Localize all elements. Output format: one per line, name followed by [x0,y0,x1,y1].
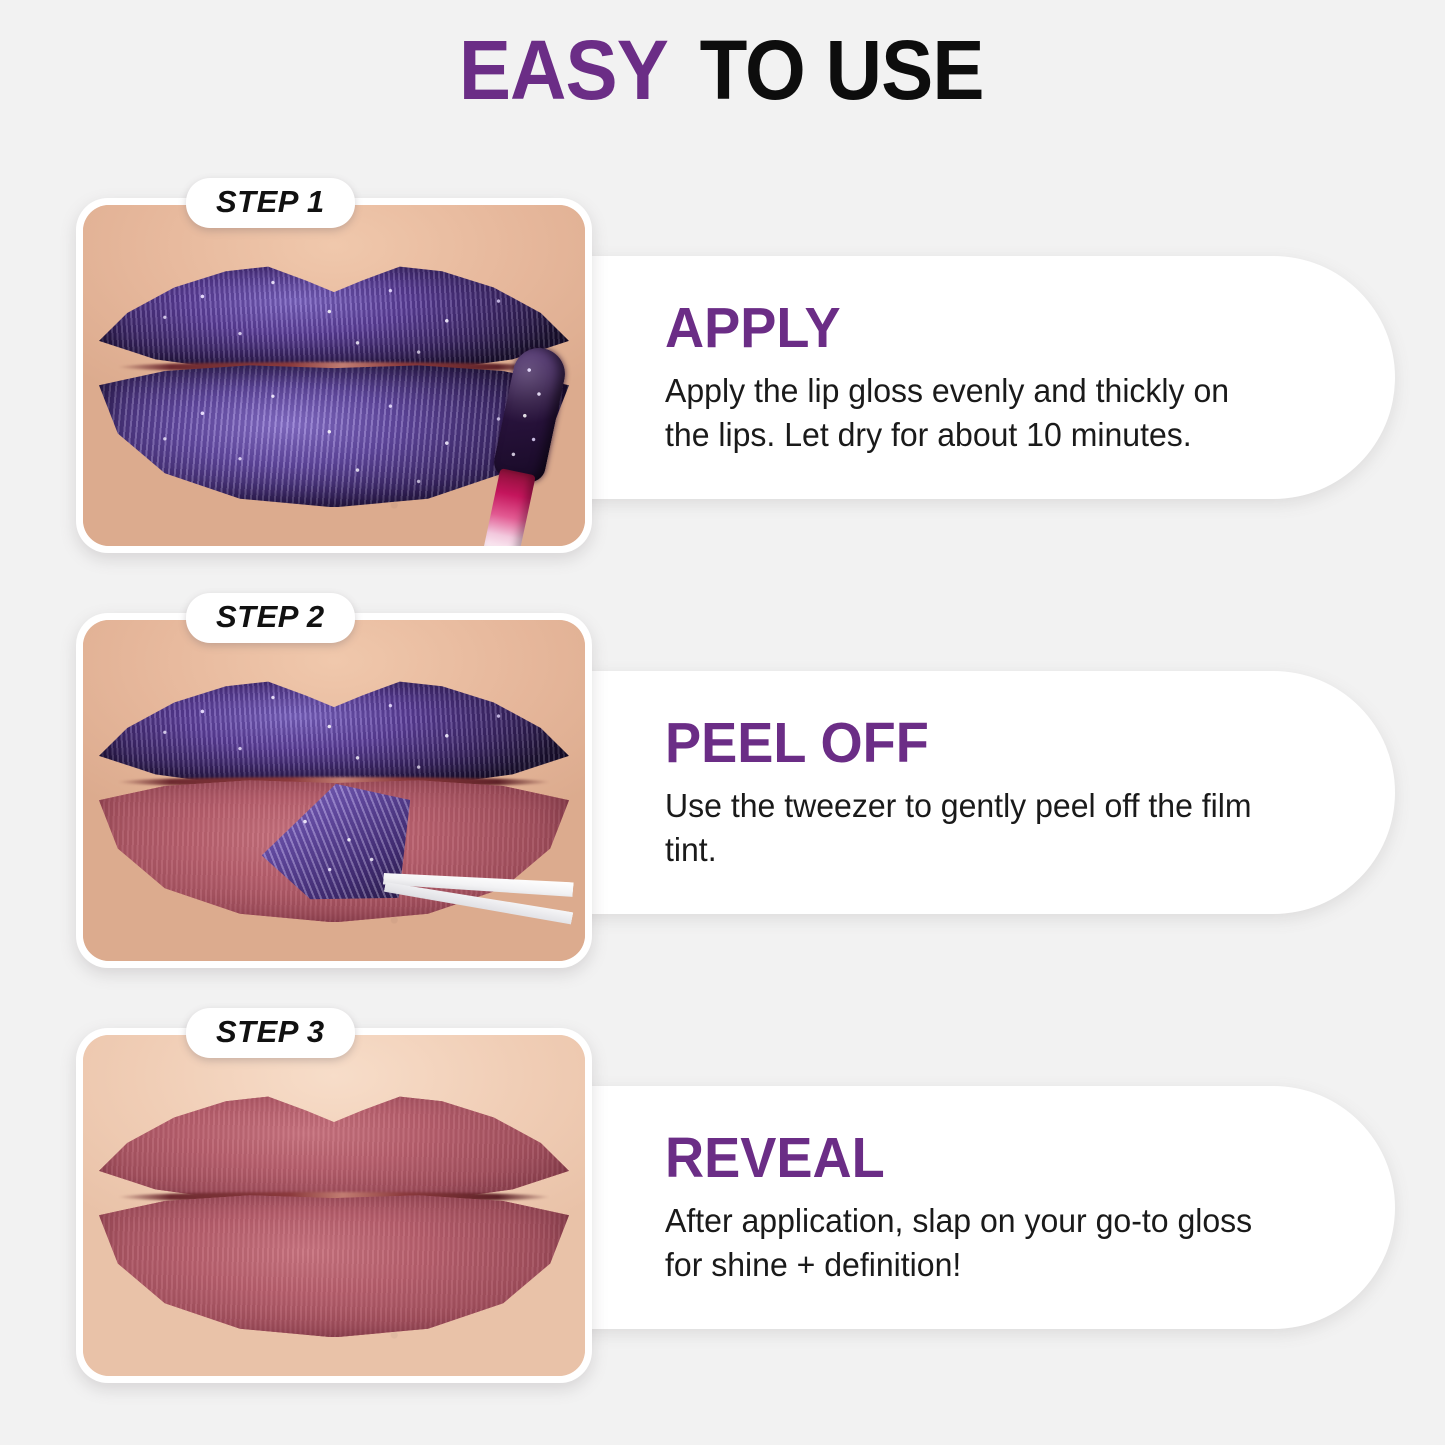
step-3-photo [76,1028,592,1383]
step-3-heading: REVEAL [665,1129,1245,1187]
step-badge-1: STEP 1 [186,178,355,228]
page-title: EASYTO USE [0,28,1445,112]
page-title-plain: TO USE [700,28,984,112]
lips-final-tint [99,1087,569,1337]
step-badge-2: STEP 2 [186,593,355,643]
step-2-heading: PEEL OFF [665,714,1245,772]
step-badge-3: STEP 3 [186,1008,355,1058]
step-2-body: Use the tweezer to gently peel off the f… [665,784,1257,871]
step-row-1: APPLY Apply the lip gloss evenly and thi… [0,190,1445,560]
step-1-body: Apply the lip gloss evenly and thickly o… [665,369,1257,456]
step-3-body: After application, slap on your go-to gl… [665,1199,1257,1286]
glitter-sparkle [99,257,569,373]
step-2-photo [76,613,592,968]
step-2-photo-inner [83,620,585,961]
wand-stem [483,468,536,546]
lower-lip [99,1195,569,1337]
upper-lip [99,257,569,373]
step-1-photo [76,198,592,553]
page-title-accent: EASY [458,28,667,112]
glitter-sparkle [99,672,569,788]
step-row-2: PEEL OFF Use the tweezer to gently peel … [0,605,1445,975]
step-row-3: REVEAL After application, slap on your g… [0,1020,1445,1390]
upper-lip [99,1087,569,1203]
step-3-photo-inner [83,1035,585,1376]
step-1-photo-inner [83,205,585,546]
upper-lip [99,672,569,788]
tweezer [383,864,573,938]
step-1-heading: APPLY [665,299,1245,357]
